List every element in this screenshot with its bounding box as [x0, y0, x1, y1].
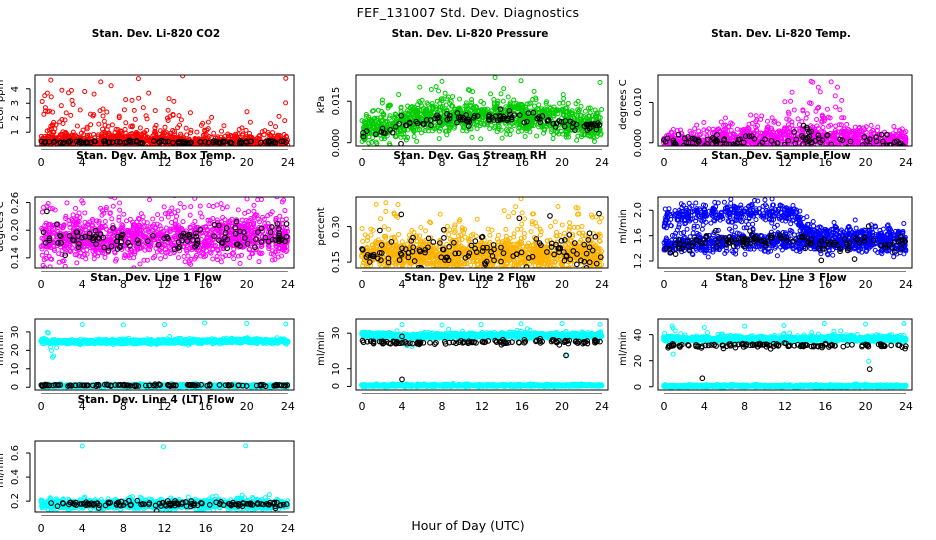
chart-panel-li820-co2: Stan. Dev. Li-820 CO2Licor ppm1234048121…: [0, 28, 312, 150]
y-axis-label-li820-temp: degrees C: [618, 63, 629, 146]
y-axis-label-line4-lt-flow: ml/min: [0, 429, 6, 512]
x-tick-line2-flow-2: 8: [428, 400, 456, 413]
y-axis-label-line2-flow: ml/min: [316, 307, 327, 390]
plot-area-li820-pressure: [314, 28, 626, 150]
chart-panel-li820-temp: Stan. Dev. Li-820 Temp.degrees C0.0000.0…: [626, 28, 936, 150]
chart-panel-amb-box-temp: Stan. Dev. Amb. Box Temp.degrees C0.140.…: [0, 150, 312, 272]
plot-area-li820-temp: [626, 28, 936, 150]
y-tick-li820-co2-3: 4: [10, 67, 21, 111]
plot-area-sample-flow: [626, 150, 936, 272]
plot-area-gas-stream-rh: [314, 150, 626, 272]
x-axis-label: Hour of Day (UTC): [0, 518, 936, 533]
data-points-li820-co2: [39, 74, 290, 149]
chart-panel-gas-stream-rh: Stan. Dev. Gas Stream RHpercent0.150.300…: [314, 150, 626, 272]
data-points-li820-temp: [662, 54, 908, 150]
plot-area-line3-flow: [626, 272, 936, 394]
x-tick-line3-flow-6: 24: [892, 400, 920, 413]
x-tick-line3-flow-5: 20: [852, 400, 880, 413]
chart-panel-line3-flow: Stan. Dev. Line 3 Flowml/min020400481216…: [626, 272, 936, 394]
x-tick-line3-flow-0: 0: [650, 400, 678, 413]
data-points-li820-pressure: [360, 76, 604, 148]
chart-panel-line2-flow: Stan. Dev. Line 2 Flowml/min010300481216…: [314, 272, 626, 394]
data-points-line4-lt-flow: [39, 444, 290, 514]
x-tick-line2-flow-5: 20: [548, 400, 576, 413]
y-axis-label-line3-flow: ml/min: [618, 307, 629, 390]
x-tick-line2-flow-3: 12: [468, 400, 496, 413]
x-tick-line2-flow-1: 4: [388, 400, 416, 413]
x-tick-line2-flow-4: 16: [508, 400, 536, 413]
y-tick-li820-pressure-1: 0.015: [331, 79, 342, 123]
y-axis-label-amb-box-temp: degrees C: [0, 185, 6, 268]
data-points-line3-flow: [662, 322, 909, 390]
plot-area-line4-lt-flow: [0, 394, 312, 516]
y-tick-gas-stream-rh-1: 0.30: [331, 205, 342, 249]
plot-area-line2-flow: [314, 272, 626, 394]
x-tick-line2-flow-0: 0: [348, 400, 376, 413]
y-tick-line4-lt-flow-2: 0.6: [10, 431, 21, 475]
y-tick-amb-box-temp-2: 0.26: [10, 181, 21, 225]
data-points-sample-flow: [662, 197, 908, 263]
data-points-gas-stream-rh: [360, 197, 604, 272]
y-axis-label-line1-flow: ml/min: [0, 307, 6, 390]
data-points-line2-flow: [360, 322, 604, 389]
chart-panel-line1-flow: Stan. Dev. Line 1 Flowml/min010203004812…: [0, 272, 312, 394]
y-axis-label-sample-flow: ml/min: [618, 185, 629, 268]
y-tick-line2-flow-2: 30: [331, 311, 342, 355]
y-axis-label-li820-pressure: kPa: [316, 63, 327, 146]
data-points-line1-flow: [39, 321, 290, 390]
y-axis-label-gas-stream-rh: percent: [316, 185, 327, 268]
x-tick-line3-flow-1: 4: [690, 400, 718, 413]
x-tick-line2-flow-6: 24: [588, 400, 616, 413]
x-tick-line3-flow-2: 8: [731, 400, 759, 413]
y-tick-line3-flow-2: 40: [633, 313, 644, 357]
y-tick-line1-flow-3: 30: [10, 310, 21, 354]
y-tick-sample-flow-2: 2.0: [633, 188, 644, 232]
plot-area-li820-co2: [0, 28, 312, 150]
chart-panel-sample-flow: Stan. Dev. Sample Flowml/min1.21.62.0048…: [626, 150, 936, 272]
chart-panel-li820-pressure: Stan. Dev. Li-820 PressurekPa0.0000.0150…: [314, 28, 626, 150]
page-title: FEF_131007 Std. Dev. Diagnostics: [0, 5, 936, 20]
plot-area-line1-flow: [0, 272, 312, 394]
y-axis-label-li820-co2: Licor ppm: [0, 63, 6, 146]
x-tick-line3-flow-3: 12: [771, 400, 799, 413]
y-tick-li820-temp-1: 0.010: [633, 80, 644, 124]
chart-panel-line4-lt-flow: Stan. Dev. Line 4 (LT) Flowml/min0.20.40…: [0, 394, 312, 516]
data-points-amb-box-temp: [39, 171, 290, 270]
x-tick-line3-flow-4: 16: [811, 400, 839, 413]
plot-area-amb-box-temp: [0, 150, 312, 272]
